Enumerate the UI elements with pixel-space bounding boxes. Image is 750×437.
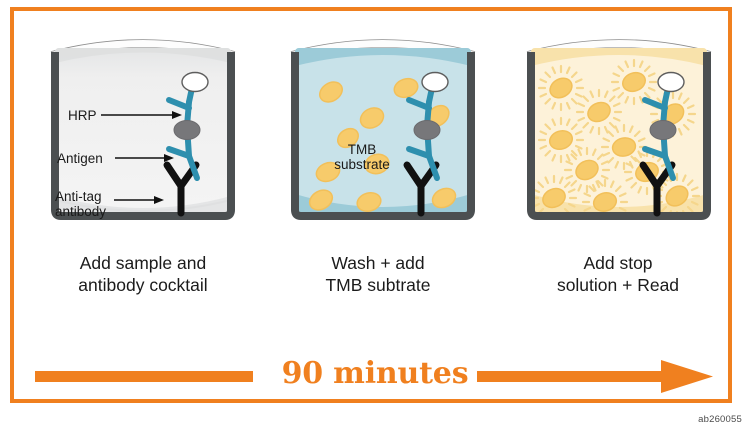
hrp-glyph-2 [422, 73, 448, 92]
antigen-glyph-2 [414, 121, 440, 140]
label-hrp: HRP [68, 108, 97, 123]
well-step-2: TMB substrate [285, 30, 481, 230]
label-anti-tag-antibody: Anti-tag antibody [55, 189, 106, 219]
well-2-interior [295, 48, 471, 214]
hrp-glyph-3 [658, 73, 684, 92]
figure-canvas: HRP Antigen Anti-tag antibody [0, 0, 750, 437]
label-tmb-substrate: TMB substrate [319, 142, 405, 172]
well-3-interior [531, 48, 707, 224]
well-2-illustration [285, 30, 481, 230]
timeline-segment-left [35, 371, 253, 382]
watermark-code: ab260055 [698, 414, 742, 425]
timeline-duration-label: 90 minutes [245, 356, 505, 391]
hrp-glyph-1 [182, 73, 208, 92]
well-3-illustration [521, 30, 717, 230]
caption-step-1: Add sample and antibody cocktail [28, 252, 258, 297]
well-step-1: HRP Antigen Anti-tag antibody [45, 30, 241, 230]
antigen-glyph-1 [174, 121, 200, 140]
caption-step-2: Wash + add TMB subtrate [263, 252, 493, 297]
antigen-glyph-3 [650, 121, 676, 140]
caption-step-3: Add stop solution + Read [503, 252, 733, 297]
well-step-3 [521, 30, 717, 230]
label-antigen: Antigen [57, 151, 103, 166]
timeline-arrowhead [661, 360, 713, 393]
timeline-segment-right [477, 371, 667, 382]
